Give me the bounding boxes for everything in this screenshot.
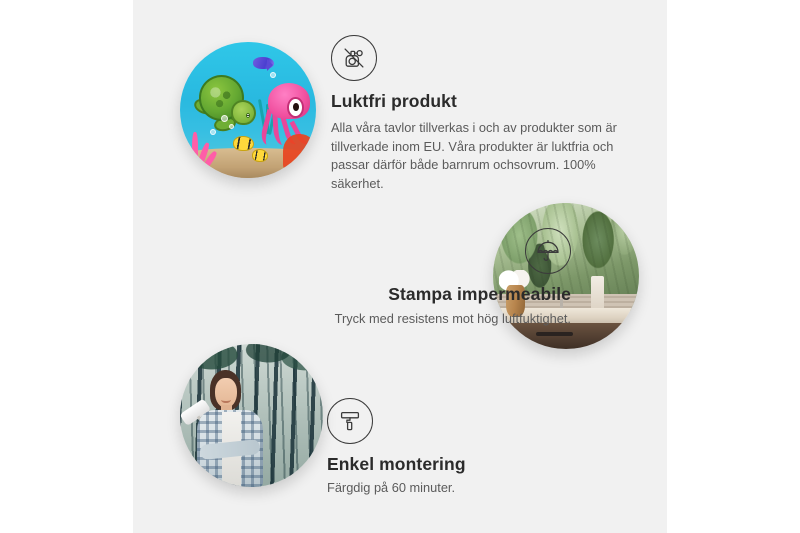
feature-title: Stampa impermeabile [215, 284, 571, 305]
paint-roller-icon [327, 398, 373, 444]
feature-waterproof-print: Stampa impermeabile Tryck med resistens … [215, 228, 571, 329]
feature-title: Enkel montering [327, 454, 627, 475]
feature-description: Färgdig på 60 minuter. [327, 479, 627, 498]
feature-odour-free: Luktfri produkt Alla våra tavlor tillver… [331, 35, 627, 194]
product-image-underwater [180, 42, 316, 178]
red-coral [283, 134, 316, 169]
blue-fish [253, 57, 273, 69]
feature-description: Alla våra tavlor tillverkas i och av pro… [331, 119, 621, 194]
content-panel: Luktfri produkt Alla våra tavlor tillver… [133, 0, 667, 533]
soap-bottle [591, 276, 604, 311]
feature-easy-mounting: Enkel montering Färgdig på 60 minuter. [327, 398, 627, 498]
feature-title: Luktfri produkt [331, 91, 627, 112]
woman-installer [191, 370, 277, 487]
yellow-fish [233, 136, 254, 152]
umbrella-icon [525, 228, 571, 274]
yellow-fish [252, 149, 268, 162]
feature-description: Tryck med resistens mot hög luftfuktighe… [215, 310, 571, 329]
product-image-installer [180, 344, 323, 487]
feature-highlights-panel: Luktfri produkt Alla våra tavlor tillver… [0, 0, 800, 533]
no-fragrance-icon [331, 35, 377, 81]
pink-coral [183, 126, 218, 170]
